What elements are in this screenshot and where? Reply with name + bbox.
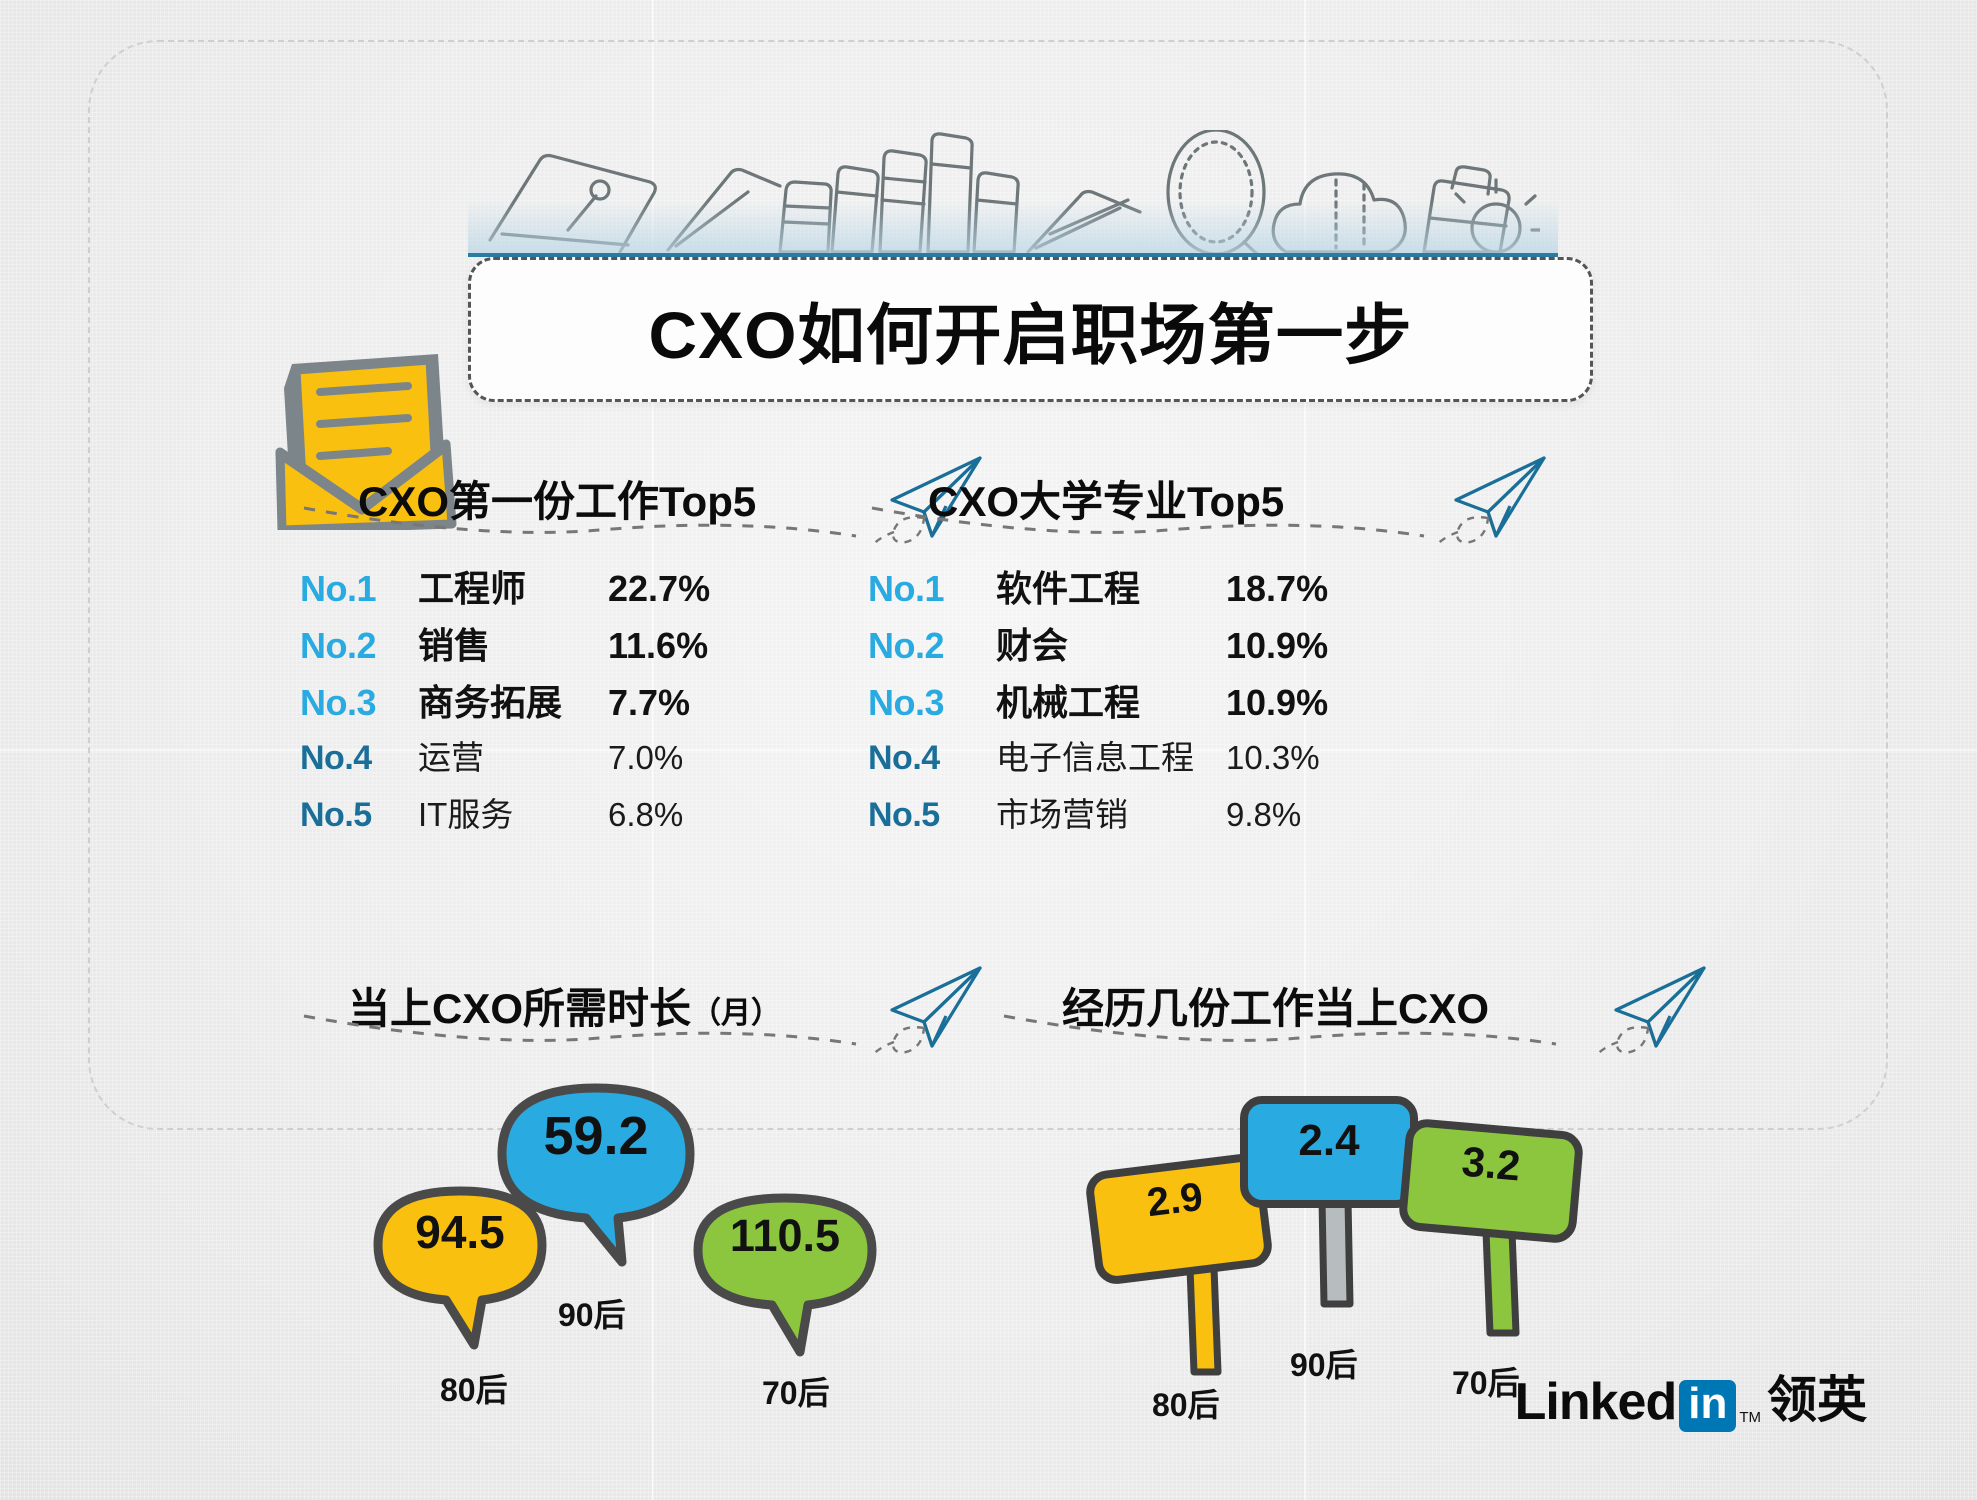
heading-underline (1000, 1008, 1560, 1052)
rank-number: No.5 (868, 796, 996, 835)
rank-number: No.4 (300, 739, 418, 778)
rank-number: No.3 (300, 682, 418, 724)
logo-in-badge: in (1679, 1380, 1736, 1432)
rank-label: 工程师 (418, 560, 608, 612)
sign-value-90s: 2.4 (1244, 1116, 1414, 1166)
rank-value: 6.8% (608, 796, 758, 834)
list-item: No.5 IT服务 6.8% (300, 788, 758, 845)
list-item: No.4 电子信息工程 10.3% (868, 731, 1366, 788)
paper-plane-icon (1436, 452, 1556, 547)
list-item: No.1 软件工程 18.7% (868, 560, 1366, 617)
rank-label: IT服务 (418, 788, 608, 836)
heading-underline (300, 500, 860, 544)
rank-label: 软件工程 (996, 560, 1226, 612)
rank-number: No.1 (300, 568, 418, 610)
logo-linked-text: Linked (1515, 1372, 1677, 1432)
rank-number: No.1 (868, 568, 996, 610)
list-item: No.1 工程师 22.7% (300, 560, 758, 617)
header: CXO如何开启职场第一步 (0, 140, 1977, 350)
linkedin-logo: Linked in TM 领英 (1515, 1360, 1867, 1432)
list-item: No.5 市场营销 9.8% (868, 788, 1366, 845)
bubble-value-90s: 59.2 (490, 1105, 702, 1167)
header-gradient-band (468, 200, 1558, 254)
rank-label: 机械工程 (996, 674, 1226, 726)
rank-value: 7.0% (608, 739, 758, 777)
rank-label: 财会 (996, 617, 1226, 669)
rank-number: No.3 (868, 682, 996, 724)
rank-value: 7.7% (608, 682, 758, 724)
list-first-job: No.1 工程师 22.7% No.2 销售 11.6% No.3 商务拓展 7… (300, 560, 758, 845)
rank-number: No.5 (300, 796, 418, 835)
rank-label: 商务拓展 (418, 674, 608, 726)
list-item: No.3 机械工程 10.9% (868, 674, 1366, 731)
sign-caption-80s: 80后 (1152, 1380, 1220, 1426)
rank-value: 9.8% (1226, 796, 1366, 834)
rank-value: 18.7% (1226, 568, 1366, 610)
rank-label: 运营 (418, 731, 608, 779)
rank-label: 销售 (418, 617, 608, 669)
list-item: No.2 财会 10.9% (868, 617, 1366, 674)
paper-plane-icon (872, 962, 992, 1057)
rank-value: 22.7% (608, 568, 758, 610)
list-item: No.2 销售 11.6% (300, 617, 758, 674)
rank-number: No.2 (868, 625, 996, 667)
rank-label: 电子信息工程 (996, 731, 1226, 779)
rank-number: No.2 (300, 625, 418, 667)
bubble-caption-80s: 80后 (440, 1365, 508, 1411)
infographic-canvas: CXO如何开启职场第一步 CXO第一份工作Top5 No.1 工程师 (0, 0, 1977, 1500)
rank-label: 市场营销 (996, 788, 1226, 836)
bubble-value-80s: 94.5 (370, 1205, 550, 1259)
rank-number: No.4 (868, 739, 996, 778)
rank-value: 11.6% (608, 625, 758, 667)
rank-value: 10.3% (1226, 739, 1366, 777)
bubble-value-70s: 110.5 (690, 1210, 880, 1262)
page-title: CXO如何开启职场第一步 (648, 282, 1412, 378)
heading-underline (300, 1008, 860, 1052)
list-major: No.1 软件工程 18.7% No.2 财会 10.9% No.3 机械工程 … (868, 560, 1366, 845)
logo-chinese-name: 领英 (1767, 1360, 1867, 1432)
rank-value: 10.9% (1226, 625, 1366, 667)
rank-value: 10.9% (1226, 682, 1366, 724)
sign-caption-90s: 90后 (1290, 1340, 1358, 1386)
bubble-caption-90s: 90后 (558, 1290, 626, 1336)
list-item: No.4 运营 7.0% (300, 731, 758, 788)
heading-underline (868, 500, 1428, 544)
logo-trademark: TM (1739, 1409, 1761, 1426)
paper-plane-icon (1596, 962, 1716, 1057)
title-card: CXO如何开启职场第一步 (468, 257, 1593, 402)
sign-caption-70s: 70后 (1452, 1358, 1520, 1404)
list-item: No.3 商务拓展 7.7% (300, 674, 758, 731)
bubble-caption-70s: 70后 (762, 1368, 830, 1414)
